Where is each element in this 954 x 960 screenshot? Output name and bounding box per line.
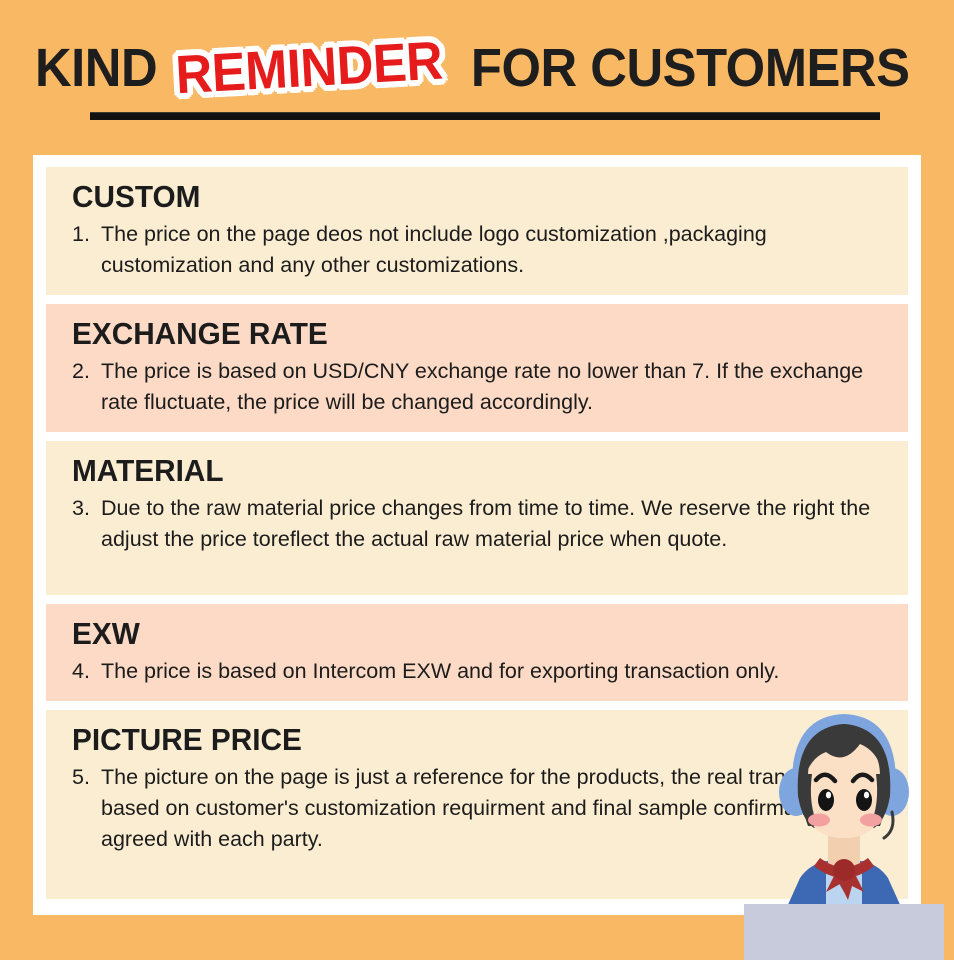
section-number: 1. (72, 219, 90, 250)
section-number: 4. (72, 656, 90, 687)
reminder-section-custom: CUSTOM 1. The price on the page deos not… (46, 167, 908, 295)
section-text: The price is based on Intercom EXW and f… (101, 656, 882, 687)
title-line: KINDREMINDERFOR CUSTOMERS (0, 34, 954, 102)
poster-canvas: KINDREMINDERFOR CUSTOMERS CUSTOM 1. The … (0, 0, 954, 960)
section-text: Due to the raw material price changes fr… (101, 493, 882, 555)
reminder-section-exchange-rate: EXCHANGE RATE 2. The price is based on U… (46, 304, 908, 432)
reminder-section-picture-price: PICTURE PRICE 5. The picture on the page… (46, 710, 908, 899)
title-word-kind: KIND (35, 36, 159, 100)
title-word-reminder: REMINDER (168, 26, 450, 109)
section-number: 2. (72, 356, 90, 387)
section-text: The price is based on USD/CNY exchange r… (101, 356, 882, 418)
section-heading: MATERIAL (72, 453, 850, 489)
reminder-section-exw: EXW 4. The price is based on Intercom EX… (46, 604, 908, 701)
section-body: 4. The price is based on Intercom EXW an… (72, 656, 882, 687)
section-heading: EXCHANGE RATE (72, 316, 850, 352)
poster-title: KINDREMINDERFOR CUSTOMERS (0, 34, 954, 124)
title-word-for-customers: FOR CUSTOMERS (469, 36, 909, 100)
section-body: 1. The price on the page deos not includ… (72, 219, 882, 281)
section-text: The picture on the page is just a refere… (101, 762, 882, 855)
section-heading: CUSTOM (72, 179, 850, 215)
section-text: The price on the page deos not include l… (101, 219, 882, 281)
title-underline-divider (90, 112, 880, 120)
section-body: 5. The picture on the page is just a ref… (72, 762, 882, 855)
reminder-card: CUSTOM 1. The price on the page deos not… (33, 155, 921, 915)
section-heading: EXW (72, 616, 850, 652)
section-heading: PICTURE PRICE (72, 722, 850, 758)
reminder-section-material: MATERIAL 3. Due to the raw material pric… (46, 441, 908, 595)
section-number: 5. (72, 762, 90, 793)
section-body: 2. The price is based on USD/CNY exchang… (72, 356, 882, 418)
section-number: 3. (72, 493, 90, 524)
section-body: 3. Due to the raw material price changes… (72, 493, 882, 555)
